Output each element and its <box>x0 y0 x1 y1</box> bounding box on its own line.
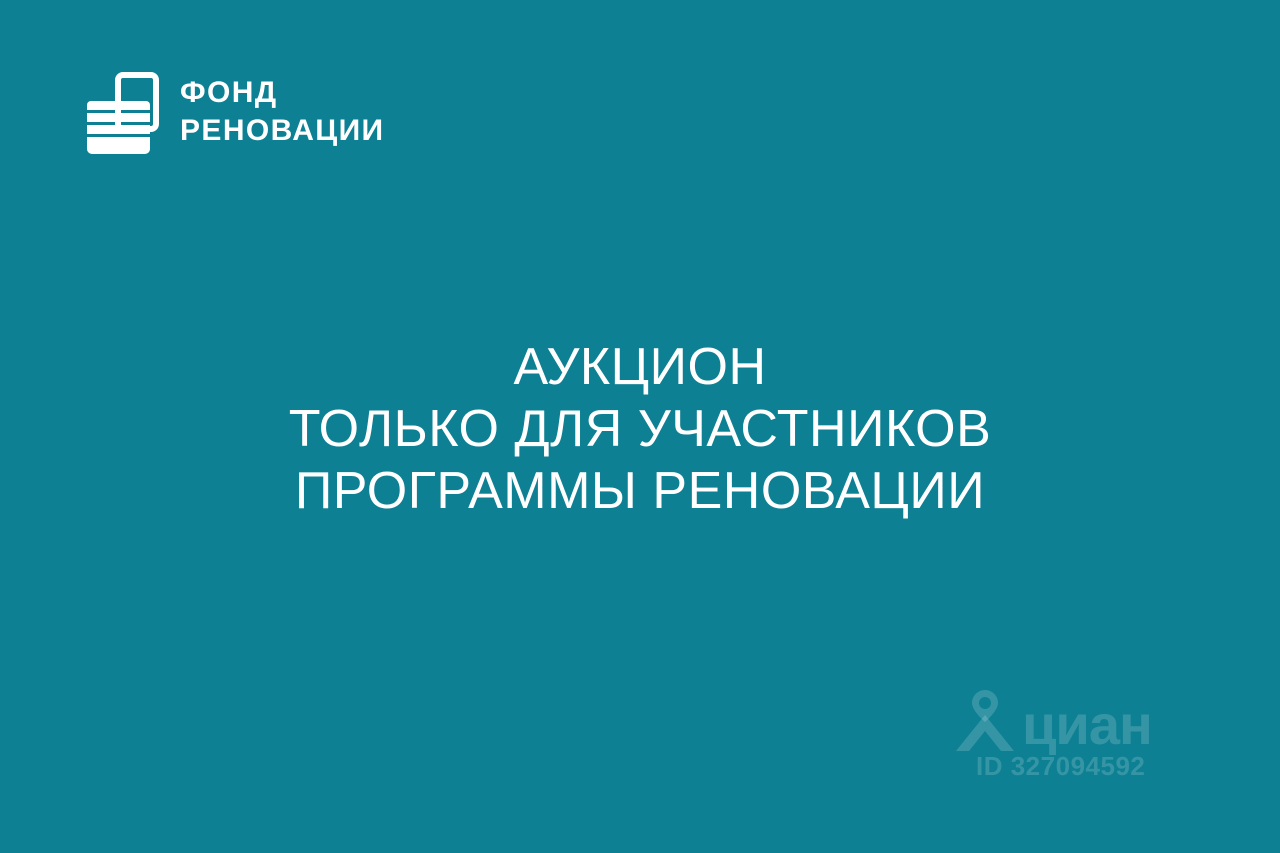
brand-line-1: ФОНД <box>180 74 385 112</box>
cian-pin-roof-icon <box>954 689 1016 753</box>
headline-line-2: ТОЛЬКО ДЛЯ УЧАСТНИКОВ <box>0 398 1280 460</box>
stack-bar-4 <box>87 137 150 154</box>
brand-wordmark: ФОНД РЕНОВАЦИИ <box>180 74 385 150</box>
poster-canvas: ФОНД РЕНОВАЦИИ АУКЦИОН ТОЛЬКО ДЛЯ УЧАСТН… <box>0 0 1280 853</box>
brand-logo: ФОНД РЕНОВАЦИИ <box>84 68 385 156</box>
cian-watermark: циан ID 327094592 <box>936 689 1168 789</box>
document-stack-shape <box>87 101 150 154</box>
stack-bar-3 <box>87 125 150 134</box>
stack-bar-1 <box>87 101 150 110</box>
brand-line-2: РЕНОВАЦИИ <box>180 112 385 150</box>
headline-line-1: АУКЦИОН <box>0 336 1280 398</box>
cian-logo: циан <box>954 689 1152 753</box>
stack-bar-2 <box>87 113 150 122</box>
stacked-documents-icon <box>84 68 164 156</box>
listing-id-label: ID 327094592 <box>976 751 1145 781</box>
headline-text: АУКЦИОН ТОЛЬКО ДЛЯ УЧАСТНИКОВ ПРОГРАММЫ … <box>0 336 1280 522</box>
cian-wordmark: циан <box>1022 697 1152 753</box>
headline-line-3: ПРОГРАММЫ РЕНОВАЦИИ <box>0 460 1280 522</box>
